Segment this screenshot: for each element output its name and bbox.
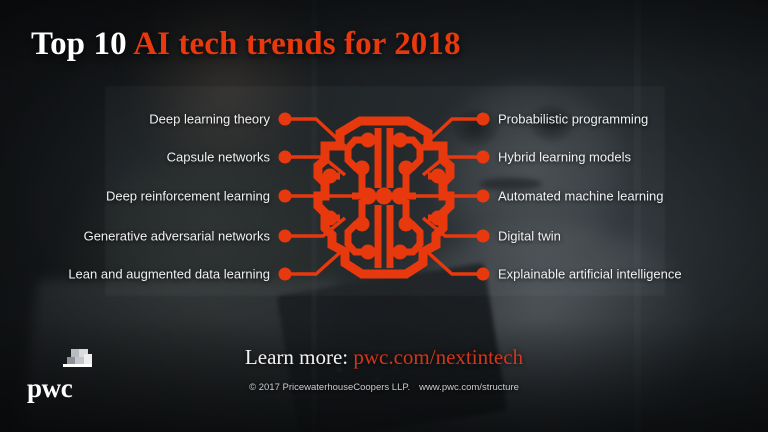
endpoint-left-2 [279,151,292,164]
brain-node-l1 [361,133,376,148]
endpoint-left-1 [279,113,292,126]
brain-node-r3 [431,169,446,184]
learn-more-line: Learn more: pwc.com/nextintech [0,345,768,370]
brain-node-center [376,188,393,205]
brain-node-r6 [399,217,414,232]
learn-more-link[interactable]: pwc.com/nextintech [353,345,523,369]
brain-node-l2 [355,161,370,176]
brain-node-r1 [393,133,408,148]
brain-node-l4 [360,188,377,205]
endpoint-right-3 [477,190,490,203]
learn-more-prefix: Learn more: [245,345,353,369]
brain-node-l7 [361,245,376,260]
brain-node-r5 [431,211,446,226]
brain-node-l3 [323,169,338,184]
trend-label-probabilistic-programming[interactable]: Probabilistic programming [498,113,648,126]
copyright-line: © 2017 PricewaterhouseCoopers LLP.www.pw… [0,382,768,393]
brain-node-r7 [393,245,408,260]
endpoint-right-2 [477,151,490,164]
trend-label-explainable-artificial-intelligence[interactable]: Explainable artificial intelligence [498,268,682,281]
trend-label-automated-machine-learning[interactable]: Automated machine learning [498,190,664,203]
trend-label-deep-reinforcement-learning[interactable]: Deep reinforcement learning [106,190,270,203]
slide-canvas: Top 10 AI tech trends for 2018 [0,0,768,432]
endpoint-left-5 [279,268,292,281]
trend-label-digital-twin[interactable]: Digital twin [498,230,561,243]
brain-node-l5 [323,211,338,226]
endpoint-left-4 [279,230,292,243]
endpoint-left-3 [279,190,292,203]
pwc-logo[interactable]: pwc [27,345,103,402]
endpoint-right-4 [477,230,490,243]
structure-link[interactable]: www.pwc.com/structure [419,382,519,393]
trend-label-lean-and-augmented-data-learning[interactable]: Lean and augmented data learning [68,268,270,281]
brain-node-r4 [392,188,409,205]
brain-node-l6 [355,217,370,232]
trend-label-generative-adversarial-networks[interactable]: Generative adversarial networks [84,230,270,243]
endpoint-right-5 [477,268,490,281]
pwc-wordmark: pwc [27,375,103,402]
trend-label-hybrid-learning-models[interactable]: Hybrid learning models [498,151,631,164]
pwc-geometric-mark-icon [57,345,103,371]
brain-node-r2 [399,161,414,176]
endpoint-right-1 [477,113,490,126]
copyright-text: © 2017 PricewaterhouseCoopers LLP. [249,382,410,393]
trend-label-capsule-networks[interactable]: Capsule networks [167,151,270,164]
trend-label-deep-learning-theory[interactable]: Deep learning theory [149,113,270,126]
